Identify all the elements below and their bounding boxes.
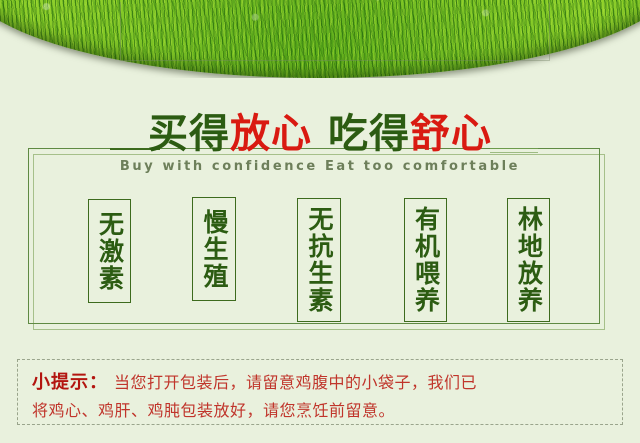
title-segment-2: 放心: [230, 111, 312, 157]
feature-label-2: 慢生殖: [199, 209, 229, 290]
tip-line-1: 小提示：当您打开包装后，请留意鸡腹中的小袋子，我们已: [32, 369, 610, 397]
feature-label-3: 无抗生素: [304, 206, 334, 314]
tip-text-1: 当您打开包装后，请留意鸡腹中的小袋子，我们已: [114, 373, 477, 392]
feature-box-5: 林地放养: [507, 198, 550, 322]
tip-label: 小提示：: [32, 372, 108, 393]
feature-box-4: 有机喂养: [404, 198, 447, 322]
feature-label-4: 有机喂养: [411, 206, 441, 314]
title-segment-4: 舒心: [410, 111, 492, 157]
tip-line-2: 将鸡心、鸡肝、鸡肫包装放好，请您烹饪前留意。: [32, 397, 610, 425]
feature-box-2: 慢生殖: [192, 197, 236, 301]
title-segment-1: 买得: [148, 111, 230, 157]
feature-label-1: 无激素: [95, 211, 125, 292]
tip-box: 小提示：当您打开包装后，请留意鸡腹中的小袋子，我们已 将鸡心、鸡肝、鸡肫包装放好…: [17, 359, 623, 425]
feature-list: 无激素 慢生殖 无抗生素 有机喂养 林地放养: [0, 196, 640, 326]
feature-box-1: 无激素: [88, 199, 131, 303]
title-block: 买得放心吃得舒心 Buy with confidence Eat too com…: [0, 112, 640, 174]
feature-box-3: 无抗生素: [297, 198, 341, 322]
background-frame-artifact: [120, 2, 550, 61]
page-title: 买得放心吃得舒心: [0, 112, 640, 156]
page-subtitle: Buy with confidence Eat too comfortable: [0, 159, 640, 174]
title-segment-3: 吃得: [328, 111, 410, 157]
feature-label-5: 林地放养: [514, 206, 544, 314]
